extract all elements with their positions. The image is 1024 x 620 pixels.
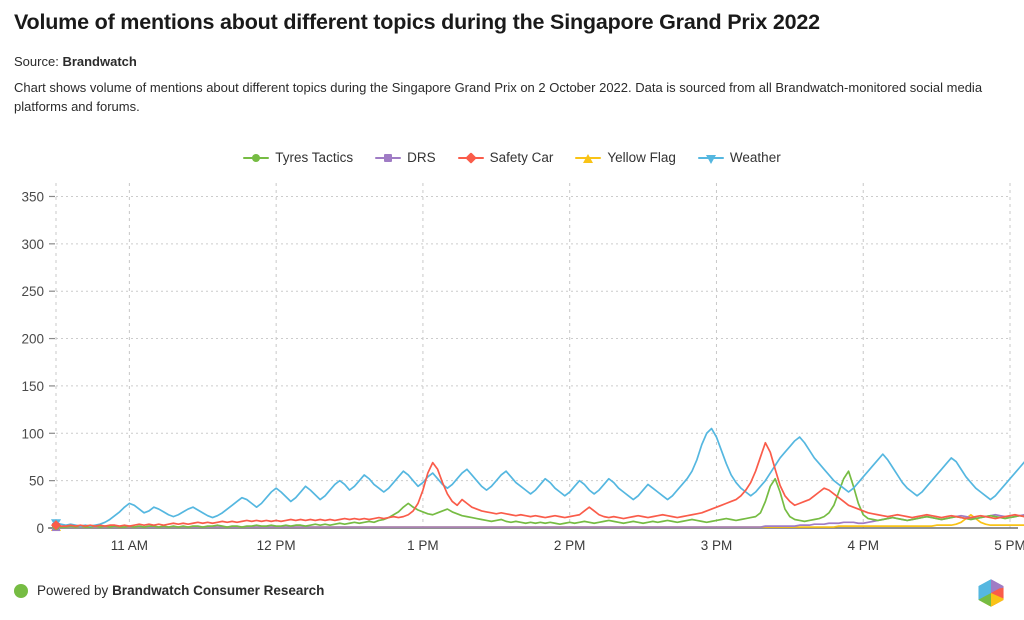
x-axis-tick-label: 5 PM bbox=[994, 538, 1024, 553]
legend-marker-triangle-up bbox=[575, 152, 601, 164]
legend-marker-circle bbox=[243, 152, 269, 164]
footer-powered-by: Powered by Brandwatch Consumer Research bbox=[14, 583, 324, 598]
y-axis-tick-label: 350 bbox=[21, 189, 44, 204]
x-axis-tick-label: 12 PM bbox=[257, 538, 296, 553]
x-axis-tick-label: 11 AM bbox=[111, 538, 148, 553]
legend-label: Weather bbox=[730, 150, 781, 165]
y-axis-tick-label: 150 bbox=[21, 379, 44, 394]
legend-item-yellow-flag[interactable]: Yellow Flag bbox=[575, 150, 676, 165]
legend-marker-diamond bbox=[458, 152, 484, 164]
legend-label: Tyres Tactics bbox=[275, 150, 353, 165]
y-axis-tick-label: 0 bbox=[36, 521, 44, 536]
brandwatch-hexagon-logo bbox=[976, 578, 1006, 608]
legend-item-safety-car[interactable]: Safety Car bbox=[458, 150, 554, 165]
y-axis-tick-label: 300 bbox=[21, 237, 44, 252]
chart-legend: Tyres TacticsDRSSafety CarYellow FlagWea… bbox=[0, 150, 1024, 165]
footer-prefix: Powered by bbox=[37, 583, 108, 598]
series-line-safety-car bbox=[56, 210, 1024, 526]
chart-description: Chart shows volume of mentions about dif… bbox=[14, 78, 989, 116]
footer-text: Powered by Brandwatch Consumer Research bbox=[37, 583, 324, 598]
chart-page: Volume of mentions about different topic… bbox=[0, 0, 1024, 620]
legend-label: DRS bbox=[407, 150, 436, 165]
source-line: Source: Brandwatch bbox=[14, 54, 137, 69]
series-line-tyres-tactics bbox=[56, 471, 1024, 527]
legend-label: Yellow Flag bbox=[607, 150, 676, 165]
legend-item-weather[interactable]: Weather bbox=[698, 150, 781, 165]
footer-brand: Brandwatch Consumer Research bbox=[112, 583, 324, 598]
x-axis-tick-label: 4 PM bbox=[847, 538, 879, 553]
legend-label: Safety Car bbox=[490, 150, 554, 165]
legend-marker-square bbox=[375, 152, 401, 164]
chart-plot-area: 05010015020025030035011 AM12 PM1 PM2 PM3… bbox=[0, 178, 1024, 558]
x-axis-tick-label: 1 PM bbox=[407, 538, 439, 553]
brandwatch-dot-icon bbox=[14, 584, 28, 598]
y-axis-tick-label: 100 bbox=[21, 426, 44, 441]
source-name: Brandwatch bbox=[62, 54, 136, 69]
y-axis-tick-label: 250 bbox=[21, 284, 44, 299]
source-label: Source: bbox=[14, 54, 59, 69]
legend-item-drs[interactable]: DRS bbox=[375, 150, 436, 165]
line-chart-svg: 05010015020025030035011 AM12 PM1 PM2 PM3… bbox=[0, 178, 1024, 558]
y-axis-tick-label: 50 bbox=[29, 474, 44, 489]
legend-item-tyres-tactics[interactable]: Tyres Tactics bbox=[243, 150, 353, 165]
x-axis-tick-label: 3 PM bbox=[701, 538, 733, 553]
x-axis-tick-label: 2 PM bbox=[554, 538, 586, 553]
series-line-weather bbox=[56, 429, 1024, 527]
page-title: Volume of mentions about different topic… bbox=[14, 10, 820, 35]
series-line-drs bbox=[56, 195, 1024, 527]
legend-marker-triangle-down bbox=[698, 152, 724, 164]
y-axis-tick-label: 200 bbox=[21, 332, 44, 347]
